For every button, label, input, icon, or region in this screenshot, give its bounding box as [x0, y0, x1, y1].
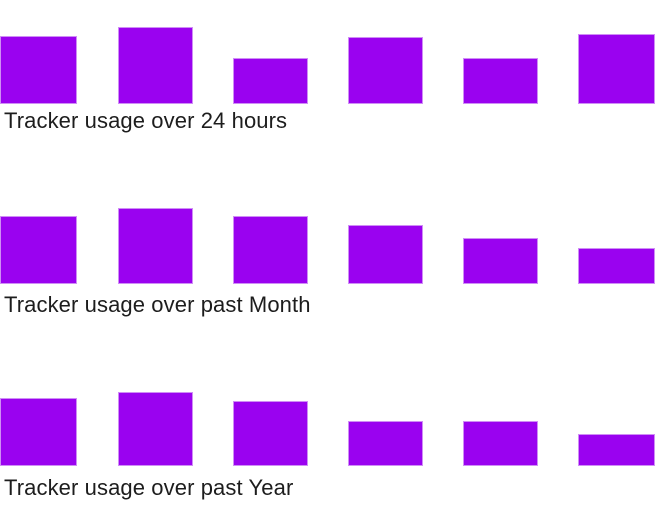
chart-title-24-hours: Tracker usage over 24 hours	[4, 108, 287, 134]
bar	[0, 216, 77, 284]
bar	[348, 37, 423, 104]
bar	[578, 434, 655, 466]
chart-title-past-year: Tracker usage over past Year	[4, 475, 293, 501]
bar	[233, 401, 308, 466]
chart-section-24-hours: Tracker usage over 24 hours	[0, 0, 655, 175]
bar	[0, 36, 77, 104]
bar	[463, 58, 538, 104]
chart-title-past-month: Tracker usage over past Month	[4, 292, 311, 318]
bar-chart-plot-past-year	[0, 362, 655, 466]
bar	[118, 27, 193, 104]
bar	[233, 58, 308, 104]
bar	[233, 216, 308, 284]
bar-chart-plot-24-hours	[0, 0, 655, 104]
bar	[463, 238, 538, 284]
bar	[578, 34, 655, 104]
bar	[118, 208, 193, 284]
bar	[0, 398, 77, 466]
bar	[463, 421, 538, 466]
chart-section-past-year: Tracker usage over past Year	[0, 362, 655, 530]
bar	[578, 248, 655, 284]
bar-chart-plot-past-month	[0, 180, 655, 284]
chart-section-past-month: Tracker usage over past Month	[0, 180, 655, 355]
bar	[348, 225, 423, 284]
bar	[118, 392, 193, 466]
bar	[348, 421, 423, 466]
